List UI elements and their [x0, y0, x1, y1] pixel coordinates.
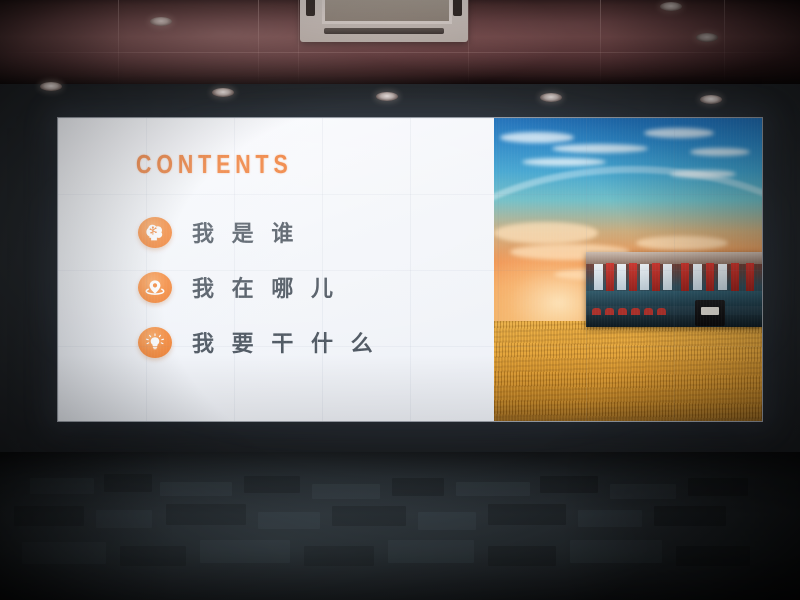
- brain-head-icon: [138, 217, 172, 248]
- list-item-label: 我 是 谁: [192, 216, 298, 248]
- recessed-downlight: [696, 33, 718, 42]
- recessed-downlight: [40, 82, 62, 91]
- ceiling-ac-vent: [300, 0, 468, 42]
- list-item-label: 我 在 哪 儿: [192, 271, 338, 303]
- list-item-label: 我 要 干 什 么: [192, 326, 378, 358]
- presentation-slide: CONTENTS: [58, 118, 762, 421]
- slide-content-panel: CONTENTS: [58, 118, 494, 421]
- page-title: CONTENTS: [136, 149, 293, 180]
- recessed-downlight: [540, 93, 562, 102]
- wood-panel-ceiling: [0, 0, 800, 84]
- wheat-field: [494, 321, 762, 421]
- recessed-downlight: [660, 2, 682, 11]
- recessed-downlight: [212, 88, 234, 97]
- agenda-list: 我 是 谁 我 在 哪 儿: [138, 216, 378, 358]
- sunset-wheat-field-photo: [494, 118, 762, 421]
- list-item[interactable]: 我 要 干 什 么: [138, 326, 378, 358]
- conference-hall-inset-photo: [586, 252, 762, 327]
- carpet-tile-floor: [0, 452, 800, 600]
- led-video-wall[interactable]: CONTENTS: [58, 118, 762, 421]
- conference-room-scene: CONTENTS: [0, 0, 800, 600]
- location-pin-icon: [138, 272, 172, 303]
- recessed-downlight: [700, 95, 722, 104]
- list-item[interactable]: 我 在 哪 儿: [138, 271, 378, 303]
- recessed-downlight: [376, 92, 398, 101]
- lightbulb-icon: [138, 327, 172, 358]
- list-item[interactable]: 我 是 谁: [138, 216, 378, 248]
- recessed-downlight: [150, 17, 172, 26]
